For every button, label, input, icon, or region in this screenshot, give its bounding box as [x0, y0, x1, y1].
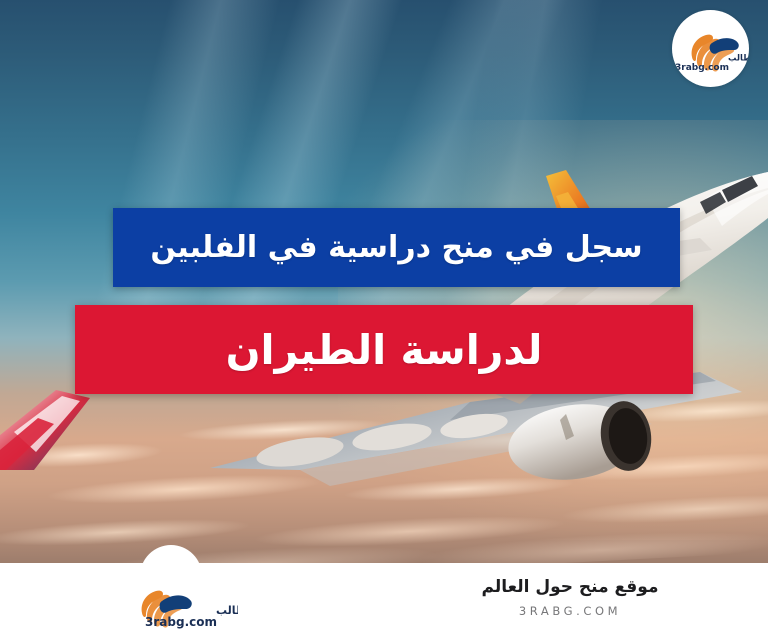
footer-logo-icon[interactable]: دليل الطالب 3rabg.com: [122, 571, 238, 633]
left-wingtip: [0, 390, 90, 470]
headline-banner-red: لدراسة الطيران: [75, 305, 693, 394]
svg-text:3rabg.com: 3rabg.com: [145, 615, 217, 629]
svg-text:دليل الطالب: دليل الطالب: [728, 53, 749, 63]
svg-text:دليل الطالب: دليل الطالب: [216, 604, 238, 617]
footer-text-block: موقع منح حول العالم 3RABG.COM: [420, 575, 720, 618]
svg-text:3rabg.com: 3rabg.com: [675, 63, 729, 73]
footer-tagline: موقع منح حول العالم: [420, 575, 720, 600]
headline-banner-blue: سجل في منح دراسية في الفلبين: [113, 208, 680, 287]
footer-domain: 3RABG.COM: [420, 604, 720, 618]
daleel-altalib-logo-icon: دليل الطالب 3rabg.com: [672, 10, 749, 87]
promo-poster: دليل الطالب 3rabg.com سجل في منح دراسية …: [0, 0, 768, 644]
cloud-deck: [0, 370, 768, 563]
engine-nacelle: [503, 396, 655, 488]
footer-bar: دليل الطالب 3rabg.com موقع منح حول العال…: [0, 563, 768, 644]
brand-logo-badge[interactable]: دليل الطالب 3rabg.com: [672, 10, 749, 87]
